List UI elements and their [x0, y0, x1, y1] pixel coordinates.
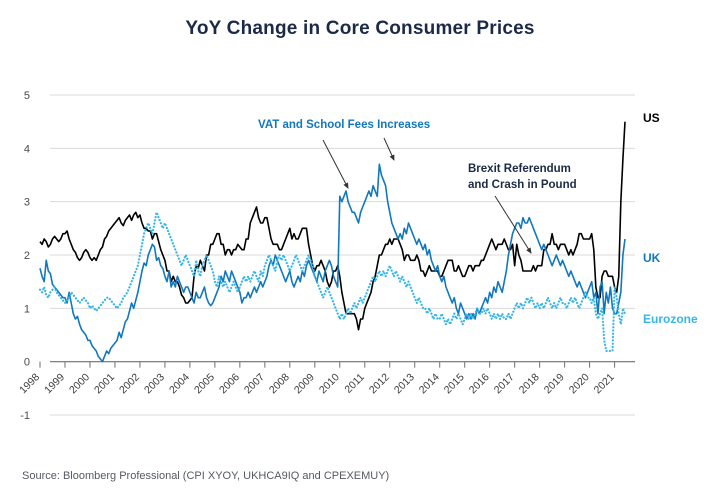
series-label-eurozone: Eurozone: [643, 312, 698, 326]
series-labels: USUKEurozone: [643, 111, 698, 326]
chart-page: YoY Change in Core Consumer Prices -1012…: [0, 0, 720, 500]
series-line-eurozone: [40, 212, 625, 351]
y-tick-label: 2: [24, 250, 30, 262]
series-line-uk: [40, 164, 625, 361]
x-tick-label: 2015: [442, 371, 467, 396]
x-tick-label: 2016: [467, 371, 492, 396]
x-tick-label: 2020: [567, 371, 592, 396]
y-tick-label: 4: [24, 143, 30, 155]
x-tick-label: 2019: [542, 371, 567, 396]
y-tick-label: 5: [24, 90, 30, 102]
y-tick-label: 3: [24, 197, 30, 209]
annotation-text: and Crash in Pound: [468, 179, 577, 191]
x-tick-label: 2004: [167, 371, 192, 396]
x-tick-label: 2001: [92, 371, 117, 396]
x-tick-label: 2005: [192, 371, 217, 396]
annotation-text: Brexit Referendum: [468, 163, 571, 175]
x-tick-label: 2013: [392, 371, 417, 396]
series-label-uk: UK: [643, 251, 661, 265]
annotations: VAT and School Fees IncreasesBrexit Refe…: [258, 119, 577, 253]
x-tick-label: 2021: [592, 371, 617, 396]
y-axis-tick-labels: -1012345: [20, 90, 30, 422]
y-tick-label: 1: [24, 303, 30, 315]
x-tick-label: 2009: [292, 371, 317, 396]
x-tick-label: 1998: [17, 371, 42, 396]
x-tick-label: 2018: [517, 371, 542, 396]
y-tick-label: -1: [20, 410, 30, 422]
x-tick-label: 2010: [317, 371, 342, 396]
x-tick-label: 2000: [67, 371, 92, 396]
x-tick-label: 2006: [217, 371, 242, 396]
x-tick-label: 2002: [117, 371, 142, 396]
x-tick-label: 2012: [367, 371, 392, 396]
x-axis-tick-labels: 1998199920002001200220032004200520062007…: [17, 371, 617, 396]
x-tick-label: 2008: [267, 371, 292, 396]
x-axis: [40, 362, 615, 368]
x-tick-label: 2007: [242, 371, 267, 396]
source-note: Source: Bloomberg Professional (CPI XYOY…: [22, 470, 389, 482]
annotation-arrow: [384, 138, 394, 160]
chart-canvas: -1012345 1998199920002001200220032004200…: [0, 0, 720, 500]
x-tick-label: 2011: [342, 371, 367, 396]
annotation-arrow: [323, 140, 348, 188]
y-tick-label: 0: [24, 357, 30, 369]
x-tick-label: 1999: [42, 371, 67, 396]
x-tick-label: 2017: [492, 371, 517, 396]
annotation-text: VAT and School Fees Increases: [258, 119, 430, 131]
x-tick-label: 2003: [142, 371, 167, 396]
x-tick-label: 2014: [417, 371, 442, 396]
series-label-us: US: [643, 111, 660, 125]
